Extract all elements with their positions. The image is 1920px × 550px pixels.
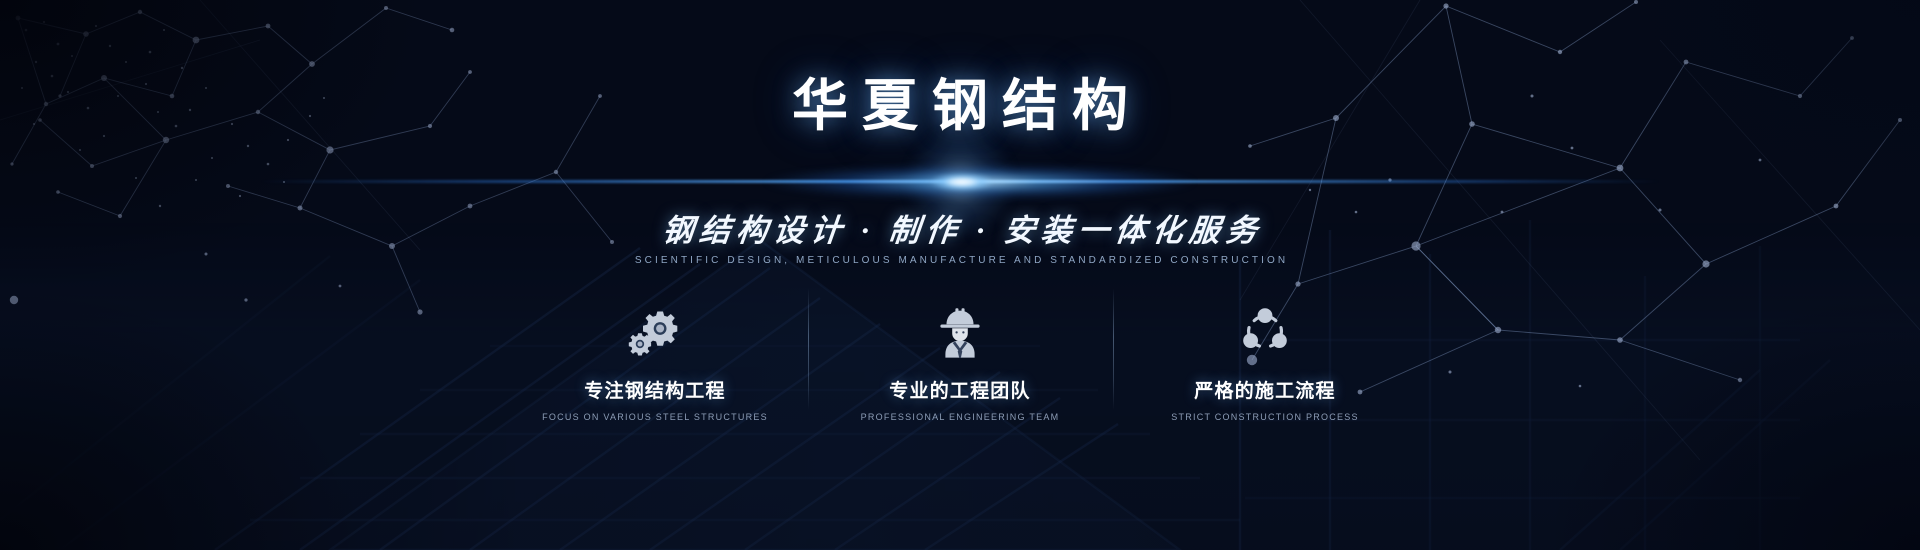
banner-subtitle-en: SCIENTIFIC DESIGN, METICULOUS MANUFACTUR… (0, 255, 1920, 266)
banner-subtitle-cn: 钢结构设计 · 制作 · 安装一体化服务 (0, 205, 1920, 250)
feature-title-en: FOCUS ON VARIOUS STEEL STRUCTURES (503, 412, 808, 422)
feature-title-cn: 专业的工程团队 (808, 376, 1113, 403)
banner-content: 华夏钢结构 钢结构设计 · 制作 · 安装一体化服务 SCIENTIFIC DE… (0, 0, 1920, 550)
feature-title-en: STRICT CONSTRUCTION PROCESS (1113, 412, 1418, 422)
feature-list: 专注钢结构工程 FOCUS ON VARIOUS STEEL STRUCTURE… (0, 300, 1920, 422)
feature-item-engineering-team[interactable]: 专业的工程团队 PROFESSIONAL ENGINEERING TEAM (808, 300, 1113, 422)
feature-title-en: PROFESSIONAL ENGINEERING TEAM (808, 412, 1113, 422)
page-title: 华夏钢结构 (0, 74, 1920, 138)
feature-title-cn: 严格的施工流程 (1113, 376, 1418, 403)
feature-item-steel-structures[interactable]: 专注钢结构工程 FOCUS ON VARIOUS STEEL STRUCTURE… (503, 300, 808, 422)
hero-banner: 华夏钢结构 钢结构设计 · 制作 · 安装一体化服务 SCIENTIFIC DE… (0, 0, 1920, 550)
process-circles-icon (1113, 300, 1418, 362)
hardhat-worker-icon (808, 300, 1113, 362)
feature-item-construction-process[interactable]: 严格的施工流程 STRICT CONSTRUCTION PROCESS (1113, 300, 1418, 422)
gears-icon (503, 300, 808, 362)
feature-title-cn: 专注钢结构工程 (503, 376, 808, 403)
